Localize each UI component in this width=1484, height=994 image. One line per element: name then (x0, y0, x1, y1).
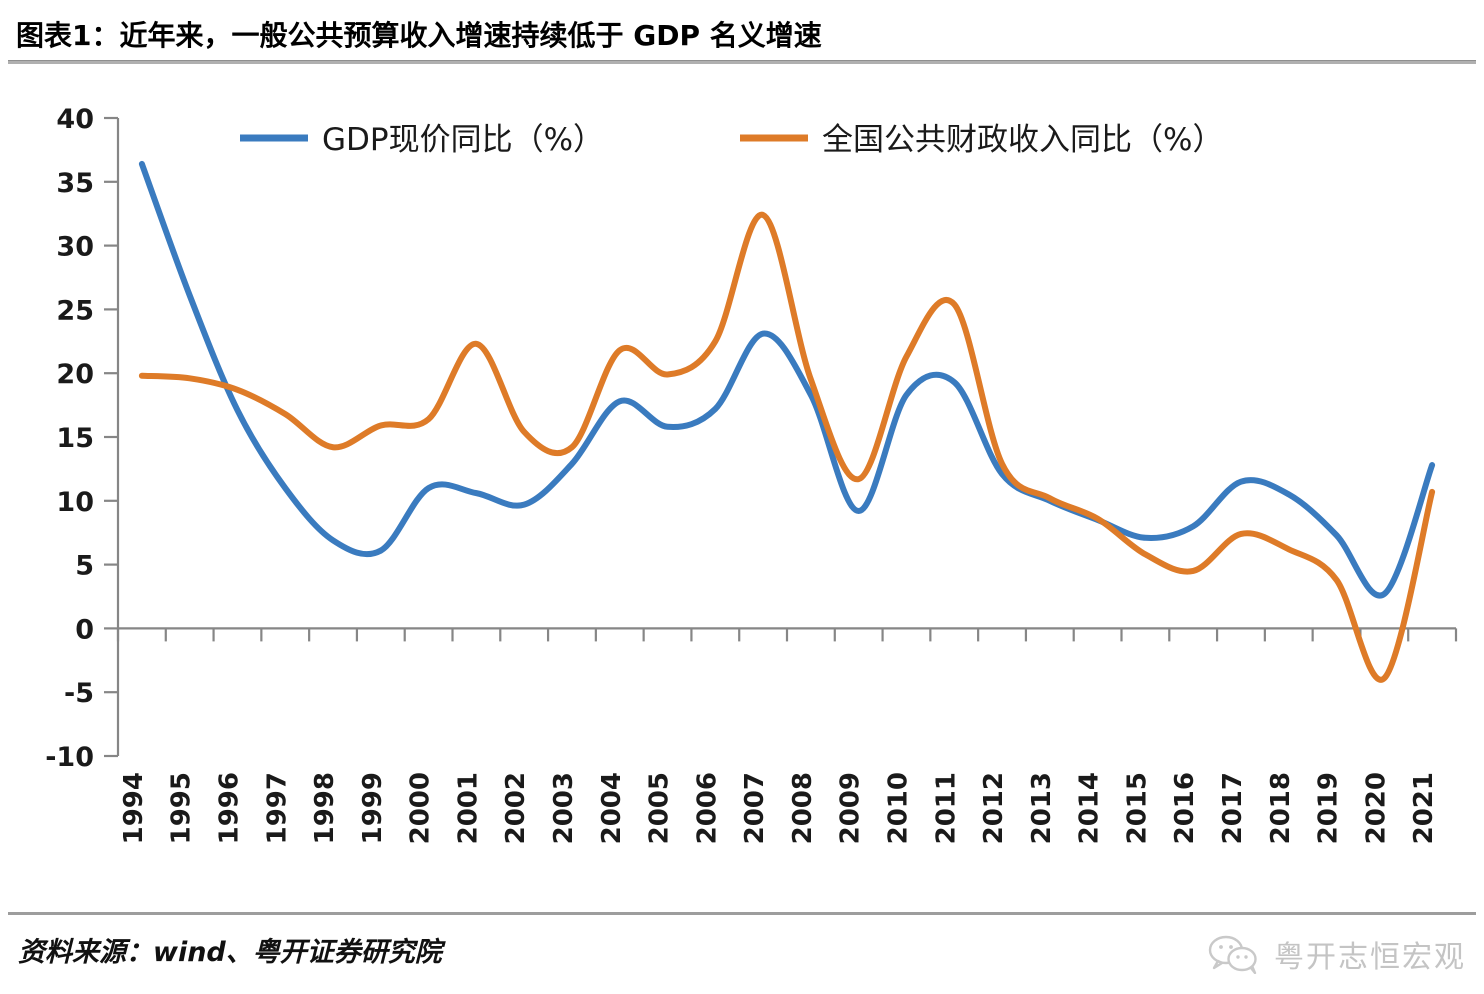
x-tick-label: 2020 (1361, 772, 1391, 844)
y-tick-label: -10 (45, 742, 94, 773)
y-tick-label: -5 (64, 678, 94, 709)
x-axis-ticks: 1994199519961997199819992000200120022003… (118, 628, 1456, 844)
y-tick-label: 20 (56, 359, 94, 390)
x-tick-label: 2016 (1170, 772, 1200, 844)
chart-container: 4035302520151050-5-10 199419951996199719… (0, 66, 1484, 896)
line-chart: 4035302520151050-5-10 199419951996199719… (0, 66, 1484, 896)
wechat-icon (1208, 934, 1260, 974)
x-tick-label: 2004 (597, 772, 627, 844)
title-divider (8, 60, 1476, 64)
chart-title-block: 图表1：近年来，一般公共预算收入增速持续低于 GDP 名义增速 (0, 0, 1484, 64)
x-tick-label: 2021 (1409, 772, 1439, 844)
x-tick-label: 2015 (1122, 772, 1152, 844)
watermark-label: 粤开志恒宏观 (1274, 932, 1466, 976)
y-tick-label: 25 (56, 295, 94, 326)
x-tick-label: 1995 (167, 772, 197, 844)
chart-legend: GDP现价同比（%）全国公共财政收入同比（%） (240, 122, 1223, 158)
y-tick-label: 5 (75, 551, 94, 582)
x-tick-label: 1999 (358, 772, 388, 844)
series-line-gdp (142, 164, 1432, 596)
page-title: 图表1：近年来，一般公共预算收入增速持续低于 GDP 名义增速 (16, 14, 822, 54)
x-tick-label: 2006 (692, 772, 722, 844)
source-note: 资料来源：wind、粤开证券研究院 (18, 930, 442, 969)
y-tick-label: 30 (56, 232, 94, 263)
y-axis-ticks: 4035302520151050-5-10 (45, 104, 118, 773)
x-tick-label: 2014 (1075, 772, 1105, 844)
y-tick-label: 40 (56, 104, 94, 135)
x-tick-label: 2010 (883, 772, 913, 844)
watermark: 粤开志恒宏观 (1208, 932, 1466, 976)
x-tick-label: 2000 (406, 772, 436, 844)
y-tick-label: 10 (56, 487, 94, 518)
x-tick-label: 2009 (836, 772, 866, 844)
x-tick-label: 2002 (501, 772, 531, 844)
x-tick-label: 1997 (262, 772, 292, 844)
legend-label-gdp: GDP现价同比（%） (322, 122, 604, 158)
x-tick-label: 2005 (645, 772, 675, 844)
x-tick-label: 1996 (214, 772, 244, 844)
x-tick-label: 1998 (310, 772, 340, 844)
x-tick-label: 2003 (549, 772, 579, 844)
series-line-revenue (142, 215, 1432, 680)
footer-divider (8, 912, 1476, 915)
x-tick-label: 2008 (788, 772, 818, 844)
x-tick-label: 2019 (1314, 772, 1344, 844)
x-tick-label: 1994 (119, 772, 149, 844)
x-tick-label: 2012 (979, 772, 1009, 844)
x-tick-label: 2007 (740, 772, 770, 844)
axis-layer (118, 118, 1456, 756)
series-layer (142, 164, 1432, 680)
x-tick-label: 2013 (1027, 772, 1057, 844)
y-tick-label: 35 (56, 168, 94, 199)
x-tick-label: 2001 (453, 772, 483, 844)
y-tick-label: 15 (56, 423, 94, 454)
legend-label-revenue: 全国公共财政收入同比（%） (822, 122, 1223, 158)
x-tick-label: 2017 (1218, 772, 1248, 844)
x-tick-label: 2018 (1266, 772, 1296, 844)
x-tick-label: 2011 (931, 772, 961, 844)
y-tick-label: 0 (75, 614, 94, 645)
